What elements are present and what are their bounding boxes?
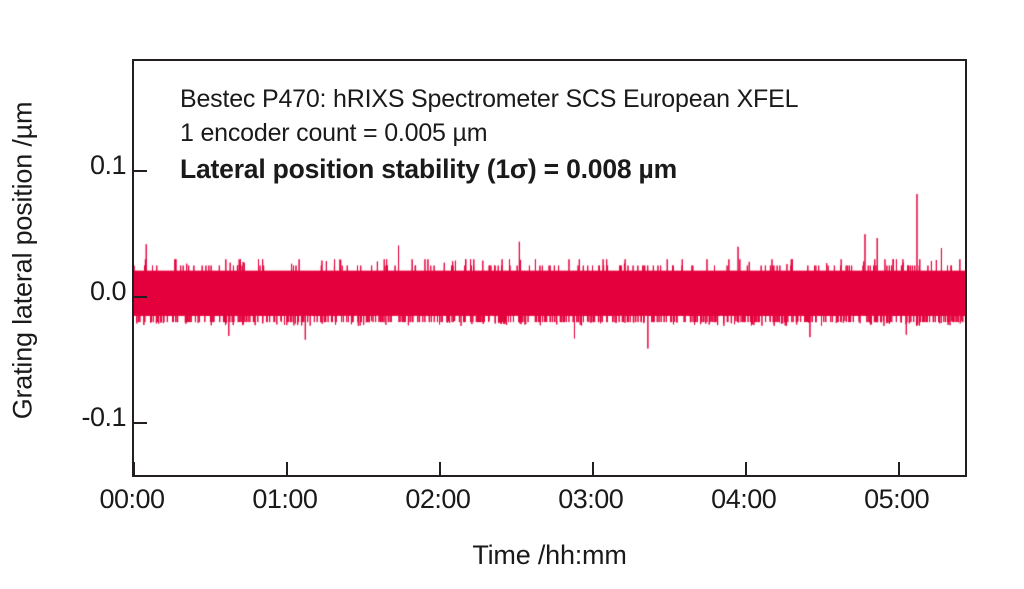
- x-tick-label: 02:00: [368, 484, 508, 515]
- y-axis-tick: [134, 170, 147, 172]
- y-axis-title: Grating lateral position /µm: [0, 0, 46, 520]
- y-tick-label: -0.1: [6, 402, 126, 433]
- y-axis-title-text: Grating lateral position /µm: [8, 101, 39, 419]
- x-axis-tick: [745, 462, 747, 475]
- annotation-block: Bestec P470: hRIXS Spectrometer SCS Euro…: [180, 82, 920, 188]
- x-axis-tick: [439, 462, 441, 475]
- annotation-line-2: 1 encoder count = 0.005 µm: [180, 116, 920, 150]
- y-axis-tick: [134, 296, 147, 298]
- x-tick-label: 01:00: [215, 484, 355, 515]
- x-axis-title: Time /hh:mm: [132, 540, 967, 571]
- chart-figure: Grating lateral position /µm 0.10.0-0.1 …: [0, 0, 1024, 589]
- x-axis-tick: [898, 462, 900, 475]
- x-tick-label-group: 00:0001:0002:0003:0004:0005:00: [0, 484, 1024, 524]
- y-tick-label: 0.1: [6, 150, 126, 181]
- x-axis-tick: [592, 462, 594, 475]
- x-tick-label: 03:00: [521, 484, 661, 515]
- y-axis-tick: [134, 422, 147, 424]
- x-tick-label: 05:00: [827, 484, 967, 515]
- y-tick-label: 0.0: [6, 276, 126, 307]
- x-tick-label: 04:00: [674, 484, 814, 515]
- y-tick-label-group: 0.10.0-0.1: [0, 0, 126, 589]
- annotation-line-1: Bestec P470: hRIXS Spectrometer SCS Euro…: [180, 82, 920, 116]
- x-axis-tick: [133, 462, 135, 475]
- plot-area: Bestec P470: hRIXS Spectrometer SCS Euro…: [132, 59, 967, 477]
- x-tick-label: 00:00: [62, 484, 202, 515]
- annotation-line-3: Lateral position stability (1σ) = 0.008 …: [180, 150, 920, 188]
- x-axis-tick: [286, 462, 288, 475]
